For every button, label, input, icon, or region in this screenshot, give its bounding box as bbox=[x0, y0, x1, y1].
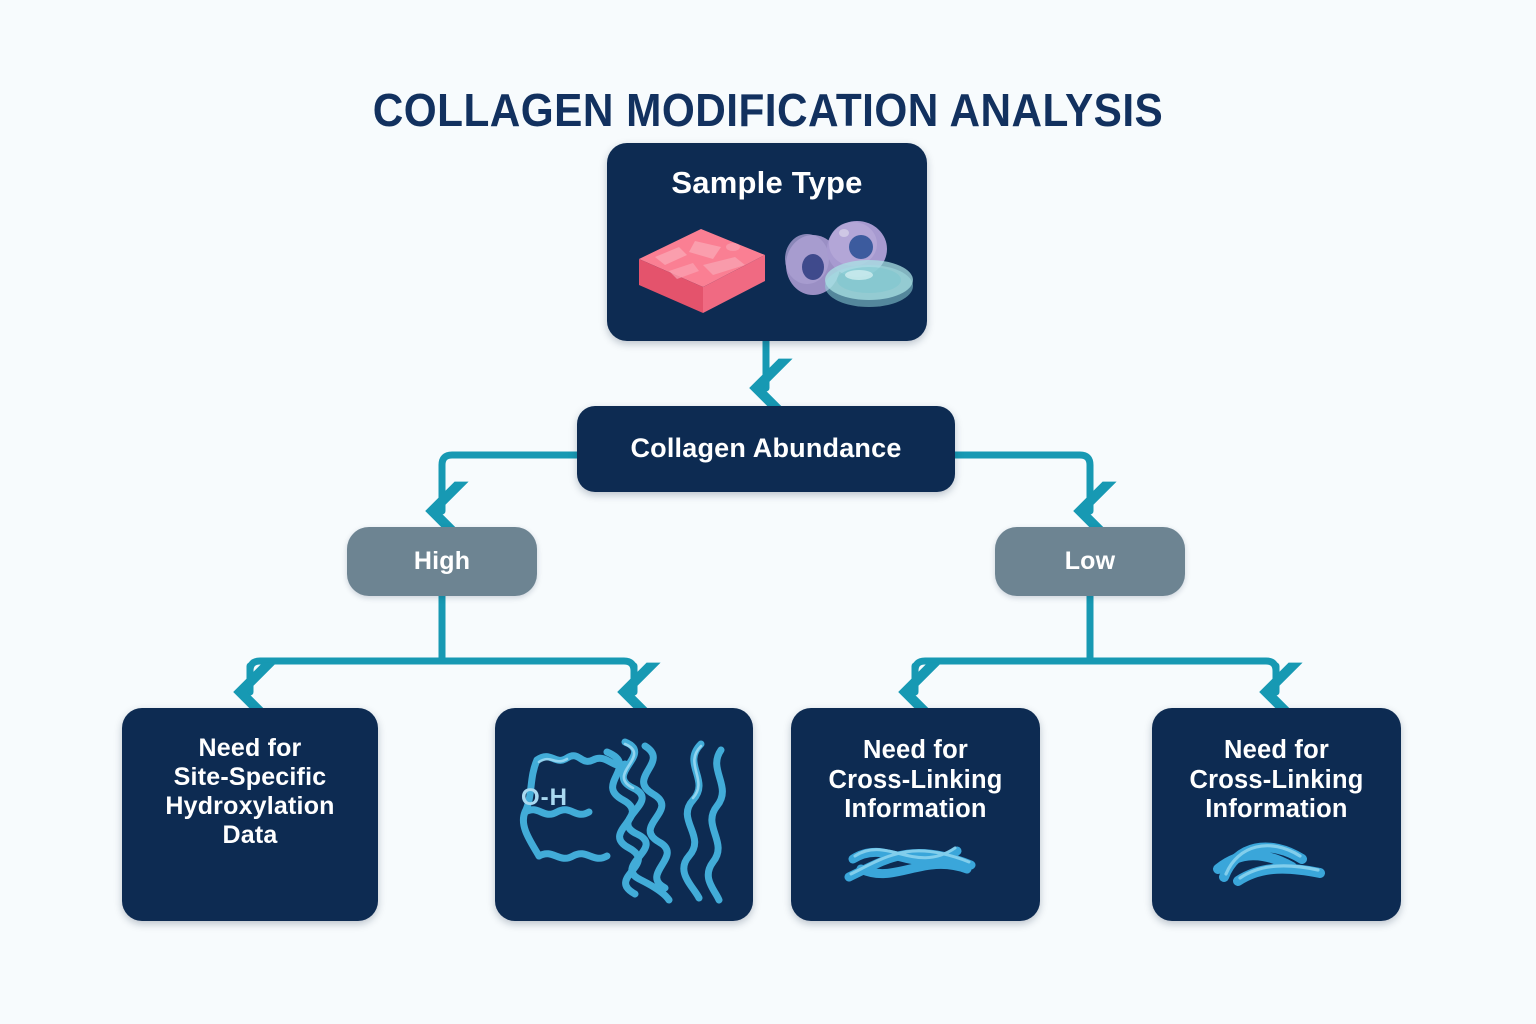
sample-type-illustration bbox=[617, 207, 917, 322]
edge-decision-to-low bbox=[955, 455, 1090, 511]
diagram-canvas: COLLAGEN MODIFICATION ANALYSIS bbox=[0, 0, 1536, 1024]
node-collagen-abundance[interactable]: Collagen Abundance bbox=[577, 406, 955, 492]
collagen-helix-illustration: O-H bbox=[495, 708, 753, 921]
node-crosslink-1-label: Need for Cross-Linking Information bbox=[818, 736, 1012, 825]
node-crosslink-2-line-3: Information bbox=[1189, 795, 1363, 825]
collagen-fiber-illustration-1 bbox=[791, 825, 1040, 921]
petri-dish-icon bbox=[825, 260, 913, 307]
node-hydroxylation-line-4: Data bbox=[165, 821, 334, 850]
node-crosslink-1-line-3: Information bbox=[828, 795, 1002, 825]
collagen-fiber-icon bbox=[1152, 825, 1401, 903]
edge-decision-to-high bbox=[442, 455, 577, 511]
node-crosslink-info-2[interactable]: Need for Cross-Linking Information bbox=[1152, 708, 1401, 921]
collagen-helix-icon bbox=[495, 708, 753, 921]
edge-low-bus bbox=[915, 661, 1276, 671]
node-branch-low[interactable]: Low bbox=[995, 527, 1185, 596]
node-hydroxylation-data[interactable]: Need for Site-Specific Hydroxylation Dat… bbox=[122, 708, 378, 921]
node-branch-low-label: Low bbox=[1065, 547, 1116, 576]
node-branch-high-label: High bbox=[414, 547, 470, 576]
tissue-block-icon bbox=[639, 229, 765, 313]
node-hydroxylation-line-3: Hydroxylation bbox=[165, 792, 334, 821]
node-collagen-abundance-label: Collagen Abundance bbox=[630, 433, 901, 464]
node-branch-high[interactable]: High bbox=[347, 527, 537, 596]
collagen-fiber-icon bbox=[791, 825, 1040, 903]
node-sample-type-label: Sample Type bbox=[671, 165, 862, 201]
collagen-fiber-illustration-2 bbox=[1152, 825, 1401, 921]
node-crosslink-1-line-2: Cross-Linking bbox=[828, 766, 1002, 796]
node-sample-type[interactable]: Sample Type bbox=[607, 143, 927, 341]
node-hydroxylation-line-2: Site-Specific bbox=[165, 763, 334, 792]
node-crosslink-2-line-2: Cross-Linking bbox=[1189, 766, 1363, 796]
node-crosslink-info-1[interactable]: Need for Cross-Linking Information bbox=[791, 708, 1040, 921]
oh-label: O-H bbox=[521, 784, 568, 812]
node-hydroxylation-label: Need for Site-Specific Hydroxylation Dat… bbox=[155, 734, 344, 850]
edge-high-bus bbox=[250, 661, 634, 671]
node-hydroxylation-line-1: Need for bbox=[165, 734, 334, 763]
node-crosslink-1-line-1: Need for bbox=[828, 736, 1002, 766]
node-oh-structure[interactable]: O-H bbox=[495, 708, 753, 921]
node-crosslink-2-line-1: Need for bbox=[1189, 736, 1363, 766]
page-title: COLLAGEN MODIFICATION ANALYSIS bbox=[61, 83, 1474, 137]
node-crosslink-2-label: Need for Cross-Linking Information bbox=[1179, 736, 1373, 825]
